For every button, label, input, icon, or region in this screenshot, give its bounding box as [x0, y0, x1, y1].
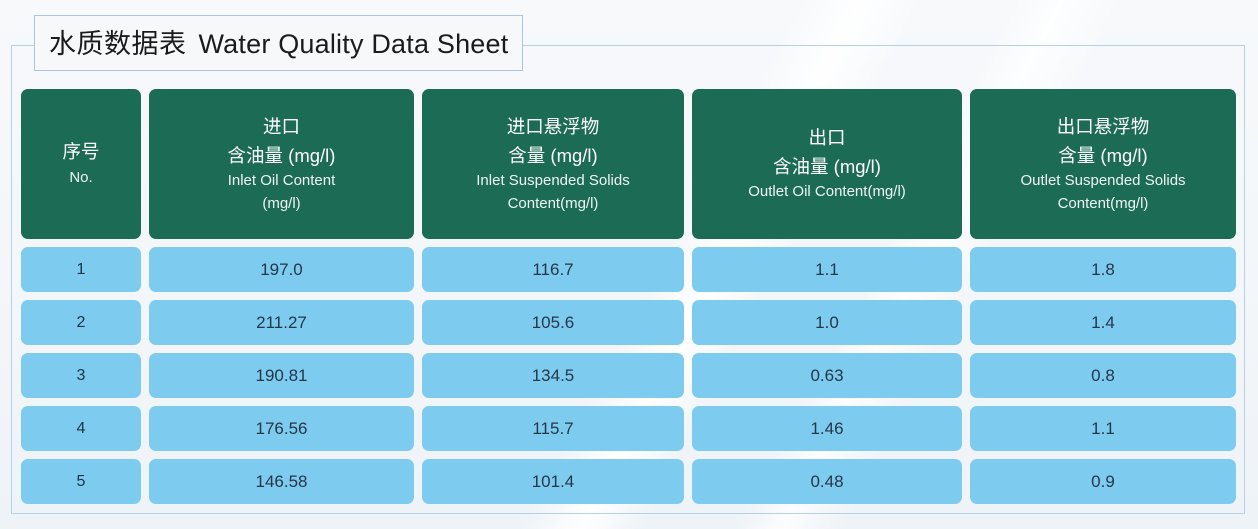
- cell-outlet-oil: 0.63: [692, 353, 962, 398]
- table-row: 1 197.0 116.7 1.1 1.8: [21, 247, 1228, 292]
- table-row: 5 146.58 101.4 0.48 0.9: [21, 459, 1228, 504]
- cell-outlet-ss-value: 0.8: [1091, 366, 1115, 386]
- water-quality-table: 序号 No. 进口 含油量 (mg/l) Inlet Oil Content (…: [21, 89, 1228, 504]
- cell-outlet-ss: 0.8: [970, 353, 1236, 398]
- cell-outlet-oil: 1.1: [692, 247, 962, 292]
- cell-outlet-oil-value: 0.63: [810, 366, 843, 386]
- column-header-outlet-ss-en1: Outlet Suspended Solids: [1020, 170, 1185, 193]
- cell-inlet-ss: 101.4: [422, 459, 684, 504]
- cell-inlet-oil-value: 176.56: [256, 419, 308, 439]
- column-header-inlet-oil-en1: Inlet Oil Content: [228, 170, 336, 193]
- column-header-no-en: No.: [69, 167, 92, 190]
- cell-outlet-ss-value: 0.9: [1091, 472, 1115, 492]
- column-header-inlet-oil-en2: (mg/l): [262, 193, 300, 216]
- cell-outlet-ss-value: 1.1: [1091, 419, 1115, 439]
- cell-inlet-ss-value: 116.7: [532, 260, 573, 280]
- cell-inlet-oil-value: 146.58: [256, 472, 308, 492]
- column-header-inlet-oil-cn2: 含油量 (mg/l): [228, 142, 336, 171]
- cell-inlet-oil-value: 190.81: [256, 366, 308, 386]
- cell-inlet-oil: 211.27: [149, 300, 414, 345]
- cell-outlet-oil: 0.48: [692, 459, 962, 504]
- cell-inlet-oil: 197.0: [149, 247, 414, 292]
- cell-inlet-ss: 115.7: [422, 406, 684, 451]
- column-header-outlet-oil-cn1: 出口: [808, 124, 845, 153]
- cell-inlet-ss-value: 101.4: [532, 472, 575, 492]
- cell-outlet-ss: 1.1: [970, 406, 1236, 451]
- table-row: 3 190.81 134.5 0.63 0.8: [21, 353, 1228, 398]
- cell-no-value: 4: [77, 420, 86, 438]
- page-title-chinese: 水质数据表: [49, 29, 187, 59]
- column-header-outlet-ss-cn1: 出口悬浮物: [1057, 113, 1150, 142]
- cell-no: 4: [21, 406, 141, 451]
- cell-inlet-ss-value: 134.5: [532, 366, 575, 386]
- cell-inlet-ss-value: 105.6: [532, 313, 575, 333]
- table-row: 2 211.27 105.6 1.0 1.4: [21, 300, 1228, 345]
- cell-no-value: 3: [77, 367, 86, 385]
- cell-inlet-oil: 176.56: [149, 406, 414, 451]
- cell-outlet-ss-value: 1.8: [1091, 260, 1115, 280]
- column-header-outlet-suspended-solids: 出口悬浮物 含量 (mg/l) Outlet Suspended Solids …: [970, 89, 1236, 239]
- column-header-inlet-oil-cn1: 进口: [263, 113, 300, 142]
- cell-no: 1: [21, 247, 141, 292]
- column-header-outlet-ss-cn2: 含量 (mg/l): [1058, 142, 1147, 171]
- column-header-no-cn: 序号: [62, 138, 99, 167]
- column-header-inlet-suspended-solids: 进口悬浮物 含量 (mg/l) Inlet Suspended Solids C…: [422, 89, 684, 239]
- cell-outlet-ss: 1.4: [970, 300, 1236, 345]
- column-header-inlet-oil: 进口 含油量 (mg/l) Inlet Oil Content (mg/l): [149, 89, 414, 239]
- cell-inlet-ss: 116.7: [422, 247, 684, 292]
- cell-inlet-ss: 134.5: [422, 353, 684, 398]
- column-header-inlet-ss-cn2: 含量 (mg/l): [508, 142, 597, 171]
- cell-outlet-oil: 1.46: [692, 406, 962, 451]
- page-title: 水质数据表Water Quality Data Sheet: [34, 15, 523, 71]
- cell-outlet-ss: 0.9: [970, 459, 1236, 504]
- column-header-inlet-ss-cn1: 进口悬浮物: [507, 113, 600, 142]
- cell-outlet-ss: 1.8: [970, 247, 1236, 292]
- column-header-no: 序号 No.: [21, 89, 141, 239]
- cell-inlet-oil-value: 211.27: [256, 313, 307, 333]
- column-header-outlet-oil: 出口 含油量 (mg/l) Outlet Oil Content(mg/l): [692, 89, 962, 239]
- table-row: 4 176.56 115.7 1.46 1.1: [21, 406, 1228, 451]
- cell-no-value: 1: [77, 261, 86, 279]
- column-header-outlet-ss-en2: Content(mg/l): [1058, 193, 1149, 216]
- cell-outlet-oil-value: 1.46: [810, 419, 843, 439]
- cell-outlet-oil-value: 1.0: [815, 313, 839, 333]
- cell-inlet-ss-value: 115.7: [532, 419, 573, 439]
- cell-outlet-oil-value: 0.48: [810, 472, 843, 492]
- cell-no-value: 2: [77, 314, 86, 332]
- cell-no: 3: [21, 353, 141, 398]
- table-header-row: 序号 No. 进口 含油量 (mg/l) Inlet Oil Content (…: [21, 89, 1228, 239]
- cell-no-value: 5: [77, 473, 86, 491]
- cell-outlet-ss-value: 1.4: [1091, 313, 1115, 333]
- column-header-inlet-ss-en2: Content(mg/l): [508, 193, 599, 216]
- column-header-outlet-oil-en1: Outlet Oil Content(mg/l): [748, 181, 906, 204]
- cell-outlet-oil-value: 1.1: [815, 260, 839, 280]
- cell-inlet-oil: 146.58: [149, 459, 414, 504]
- cell-outlet-oil: 1.0: [692, 300, 962, 345]
- column-header-outlet-oil-cn2: 含油量 (mg/l): [773, 153, 881, 182]
- page-title-english: Water Quality Data Sheet: [199, 29, 509, 59]
- cell-inlet-oil: 190.81: [149, 353, 414, 398]
- cell-no: 5: [21, 459, 141, 504]
- cell-inlet-ss: 105.6: [422, 300, 684, 345]
- cell-no: 2: [21, 300, 141, 345]
- cell-inlet-oil-value: 197.0: [260, 260, 303, 280]
- column-header-inlet-ss-en1: Inlet Suspended Solids: [476, 170, 629, 193]
